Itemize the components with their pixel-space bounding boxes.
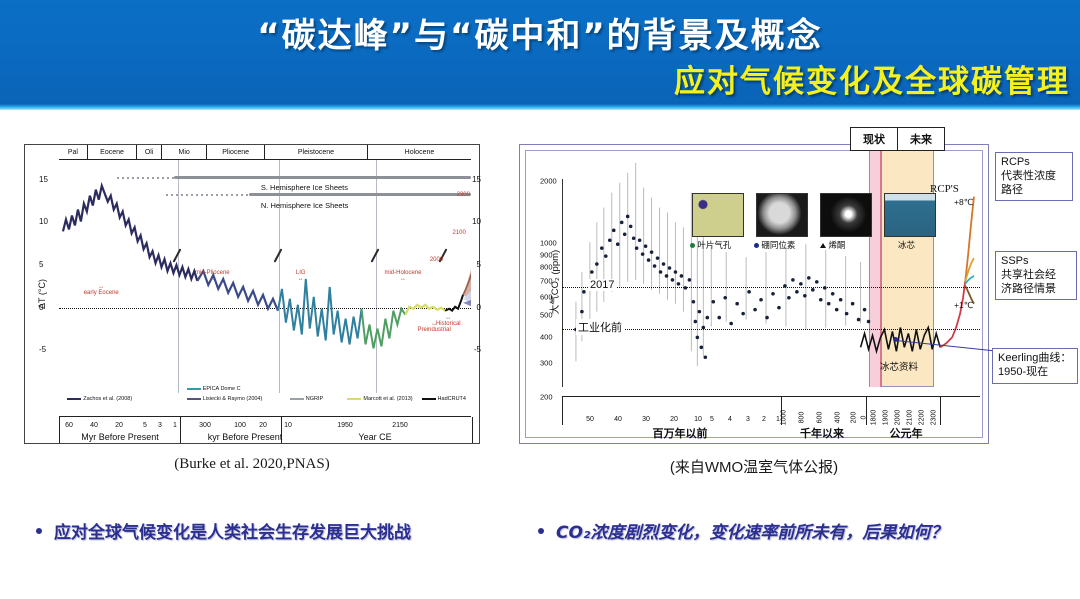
epoch-eocene: Eocene <box>88 145 137 159</box>
thumbnail-alkenone <box>820 193 872 237</box>
right-x-sep-3 <box>940 397 941 425</box>
left-ytick-right-10: 10 <box>472 217 481 226</box>
reference-label-preindustrial: 工业化前 <box>576 319 624 335</box>
epoch-pliocene: Pliocene <box>207 145 265 159</box>
page-subtitle: 应对气候变化及全球碳管理 <box>674 56 1070 101</box>
left-ytick-15: 15 <box>39 175 48 184</box>
left-xtick-2150: 2150 <box>392 422 408 429</box>
right-xtick-1900: 1900 <box>883 410 890 426</box>
figures-area: Pal Eocene Oli Mio Pliocene Pleistocene … <box>0 118 1080 498</box>
left-xtick-20k: 20 <box>259 422 267 429</box>
right-xtick-1800: 1800 <box>871 410 878 426</box>
slide-header: “碳达峰”与“碳中和”的背景及概念 应对气候变化及全球碳管理 <box>0 0 1080 104</box>
arrow-glyph: ↔ <box>209 276 215 282</box>
right-xtick-10: 10 <box>694 416 702 423</box>
marker-green-dot-icon <box>690 243 695 248</box>
left-xsection-kyr: kyr Before Present <box>208 432 283 442</box>
left-xtick-10k: 10 <box>284 422 292 429</box>
bullet-row: 应对全球气候变化是人类社会生存发展巨大挑战 CO₂浓度剧烈变化，变化速率前所未有… <box>0 512 1080 556</box>
projection-label-2100: 2100 <box>452 230 465 236</box>
right-xtick-1000y: 1000 <box>781 410 788 426</box>
left-x-axis <box>59 416 471 417</box>
left-xtick-5: 5 <box>143 422 147 429</box>
thumbnail-label-alkenone: 烯酮 <box>820 239 845 251</box>
legend-zachos: Zachos et al. (2008) <box>67 396 132 402</box>
marker-blue-dot-icon <box>754 243 759 248</box>
right-ytick-200: 200 <box>540 393 553 402</box>
epoch-pal: Pal <box>59 145 88 159</box>
legend-hadcrut: HadCRUT4 <box>422 396 466 402</box>
left-xtick-20: 20 <box>115 422 123 429</box>
right-xtick-40: 40 <box>614 416 622 423</box>
left-x-sep-3 <box>472 417 473 443</box>
left-xtick-40: 40 <box>90 422 98 429</box>
legend-hadcrut-label: HadCRUT4 <box>438 396 466 402</box>
right-xtick-2100: 2100 <box>907 410 914 426</box>
right-xtick-2: 2 <box>762 416 766 423</box>
left-ytick-m5: -5 <box>39 345 46 354</box>
legend-epica: EPICA Dome C <box>187 386 241 392</box>
callout-rcps: RCPs 代表性浓度 路径 <box>995 152 1073 201</box>
right-xtick-50: 50 <box>586 416 594 423</box>
thumbnail-label-leaf-stomata-text: 叶片气孔 <box>697 240 731 250</box>
right-xsection-kyr: 千年以来 <box>800 425 844 441</box>
header-underline <box>0 104 1080 110</box>
reference-line-preindustrial <box>562 329 980 330</box>
callout-ssps-title: SSPs <box>1001 255 1071 269</box>
left-ytick-right-m5: -5 <box>474 345 481 354</box>
left-ytick-right-0: 0 <box>477 303 481 312</box>
arrow-glyph: ↔ <box>298 276 304 282</box>
right-ytick-2000: 2000 <box>540 177 557 186</box>
right-ytick-1000: 1000 <box>540 239 557 248</box>
thumbnail-leaf-stomata <box>692 193 744 237</box>
reference-line-2017 <box>562 287 980 288</box>
callout-rcps-line1: 代表性浓度 <box>1001 170 1067 184</box>
right-xtick-5: 5 <box>710 416 714 423</box>
callout-ssps-line2: 济路径情景 <box>1001 283 1071 297</box>
epoch-mio: Mio <box>162 145 207 159</box>
temp-label-plus8: +8℃ <box>954 197 973 208</box>
left-xtick-1950: 1950 <box>337 422 353 429</box>
left-x-sep-0 <box>59 417 60 443</box>
slide-root: “碳达峰”与“碳中和”的背景及概念 应对气候变化及全球碳管理 Pal Eocen… <box>0 0 1080 599</box>
left-xsection-yearce: Year CE <box>358 432 391 442</box>
right-xtick-800y: 800 <box>799 412 806 424</box>
co2-proxy-scatter <box>562 153 980 387</box>
right-xsection-yearce: 公元年 <box>890 425 923 441</box>
right-xtick-1: 1 <box>776 416 780 423</box>
thumbnail-label-boron: 硼同位素 <box>754 239 795 251</box>
left-legend: Zachos et al. (2008) Lisiecki & Raymo (2… <box>59 383 471 407</box>
icecore-data-label: 冰芯资料 <box>880 359 918 373</box>
annotation-mid-holocene: mid-Holocene ↔ <box>384 270 421 282</box>
right-xtick-2000: 2000 <box>895 410 902 426</box>
bullet-item-2-text: CO₂浓度剧烈变化，变化速率前所未有，后果如何？ <box>556 518 947 543</box>
callout-rcps-line2: 路径 <box>1001 184 1067 198</box>
legend-swatch-icon <box>290 398 304 400</box>
right-ytick-900: 900 <box>540 251 553 260</box>
left-ytick-right-15: 15 <box>472 175 481 184</box>
bullet-dot-icon <box>36 528 42 534</box>
left-ytick-5: 5 <box>39 260 43 269</box>
page-title: “碳达峰”与“碳中和”的背景及概念 <box>0 8 1080 57</box>
right-xtick-0y: 0 <box>861 416 868 420</box>
legend-lisiecki-label: Lisiecki & Raymo (2004) <box>203 396 263 402</box>
left-figure: Pal Eocene Oli Mio Pliocene Pleistocene … <box>24 144 480 444</box>
scenario-rcps-label: RCP'S <box>930 183 959 195</box>
right-figure-caption: (来自WMO温室气体公报) <box>519 456 989 477</box>
legend-ngrip: NGRIP <box>290 396 323 402</box>
left-xsection-myr: Myr Before Present <box>81 432 159 442</box>
left-xtick-100: 100 <box>234 422 246 429</box>
thumbnail-label-leaf-stomata: 叶片气孔 <box>690 239 731 251</box>
marker-triangle-icon <box>820 243 826 248</box>
annotation-lig: LIG ↔ <box>296 270 306 282</box>
legend-zachos-label: Zachos et al. (2008) <box>83 396 132 402</box>
right-ytick-600: 600 <box>540 293 553 302</box>
right-x-sep-2 <box>866 397 867 425</box>
annotation-early-eocene: ↔ early Eocene <box>84 284 119 296</box>
epoch-oli: Oli <box>137 145 162 159</box>
right-figure: 现状 未来 大气CO₂ (ppm) 2000 1000 900 800 700 … <box>519 144 989 444</box>
legend-swatch-icon <box>187 398 201 400</box>
reference-label-2017: 2017 <box>588 279 616 291</box>
callout-keeling-anchor <box>893 337 898 342</box>
slide-bottom-margin <box>0 578 1080 599</box>
legend-lisiecki: Lisiecki & Raymo (2004) <box>187 396 263 402</box>
right-xtick-3: 3 <box>746 416 750 423</box>
callout-keeling-title: Keerling曲线： <box>998 352 1072 366</box>
right-xtick-2200: 2200 <box>919 410 926 426</box>
temp-label-plus1: +1℃ <box>954 300 973 311</box>
right-ytick-300: 300 <box>540 359 553 368</box>
right-x-axis <box>562 396 980 397</box>
left-ytick-10: 10 <box>39 217 48 226</box>
legend-epica-label: EPICA Dome C <box>203 386 241 392</box>
right-xtick-200y: 200 <box>851 412 858 424</box>
arrow-glyph: ↔ <box>400 276 406 282</box>
right-xtick-30: 30 <box>642 416 650 423</box>
bullet-dot-icon <box>538 528 544 534</box>
annotation-preindustrial-label: Preindustrial <box>417 327 450 333</box>
right-xtick-20: 20 <box>670 416 678 423</box>
left-xtick-1: 1 <box>173 422 177 429</box>
bullet-item-1-text: 应对全球气候变化是人类社会生存发展巨大挑战 <box>54 518 411 543</box>
right-xtick-2300: 2300 <box>931 410 938 426</box>
callout-rcps-title: RCPs <box>1001 156 1067 170</box>
annotation-historical: ↔ Historical <box>436 315 461 327</box>
left-ytick-0: 0 <box>39 303 43 312</box>
left-plot-area: S. Hemisphere Ice Sheets N. Hemisphere I… <box>59 160 471 393</box>
bullet-item-2: CO₂浓度剧烈变化，变化速率前所未有，后果如何？ <box>538 518 947 543</box>
right-x-sep-0 <box>562 397 563 425</box>
right-plot-area: 2017 工业化前 叶片气孔 硼同位素 烯酮 <box>562 153 980 387</box>
thumbnail-label-alkenone-text: 烯酮 <box>828 240 845 250</box>
bullet-item-1: 应对全球气候变化是人类社会生存发展巨大挑战 <box>36 518 411 543</box>
right-ytick-400: 400 <box>540 333 553 342</box>
tab-future[interactable]: 未来 <box>898 128 944 150</box>
thumbnail-label-boron-text: 硼同位素 <box>761 240 795 250</box>
scenario-tabs[interactable]: 现状 未来 <box>850 127 945 151</box>
legend-swatch-icon <box>67 398 81 400</box>
epoch-pleistocene: Pleistocene <box>265 145 368 159</box>
left-xtick-60: 60 <box>65 422 73 429</box>
epoch-holocene: Holocene <box>368 145 471 159</box>
callout-keeling: Keerling曲线： 1950-现在 <box>992 348 1078 384</box>
legend-marcott-label: Marcott et al. (2013) <box>363 396 412 402</box>
callout-ssps: SSPs 共享社会经 济路径情景 <box>995 251 1077 300</box>
right-ytick-500: 500 <box>540 311 553 320</box>
right-xsection-myr: 百万年以前 <box>653 425 708 441</box>
left-figure-caption: (Burke et al. 2020,PNAS) <box>24 456 480 473</box>
right-xtick-400y: 400 <box>835 412 842 424</box>
legend-swatch-icon <box>347 398 361 400</box>
left-ytick-right-5: 5 <box>477 260 481 269</box>
callout-keeling-line1: 1950-现在 <box>998 366 1072 380</box>
left-xtick-300: 300 <box>199 422 211 429</box>
legend-swatch-icon <box>422 398 436 400</box>
right-xtick-600y: 600 <box>817 412 824 424</box>
thumbnail-label-icecore: 冰芯 <box>898 239 915 251</box>
legend-ngrip-label: NGRIP <box>306 396 323 402</box>
left-x-sep-1 <box>180 417 181 443</box>
legend-swatch-icon <box>187 388 201 390</box>
right-ytick-800: 800 <box>540 263 553 272</box>
projection-label-2000: 2000 <box>430 257 443 263</box>
legend-marcott: Marcott et al. (2013) <box>347 396 412 402</box>
thumbnail-boron-isotope <box>756 193 808 237</box>
annotation-early-eocene-label: early Eocene <box>84 290 119 296</box>
right-ytick-700: 700 <box>540 277 553 286</box>
epoch-band-row: Pal Eocene Oli Mio Pliocene Pleistocene … <box>59 145 471 160</box>
callout-ssps-line1: 共享社会经 <box>1001 269 1071 283</box>
tab-current[interactable]: 现状 <box>851 128 898 150</box>
left-xtick-3: 3 <box>158 422 162 429</box>
thumbnail-ice-core <box>884 193 936 237</box>
annotation-historical-label: Historical <box>436 321 461 327</box>
projection-label-2300: 2300 <box>457 192 470 198</box>
right-xtick-4: 4 <box>728 416 732 423</box>
annotation-mid-pliocene: mid-Pliocene ↔ <box>195 270 230 282</box>
